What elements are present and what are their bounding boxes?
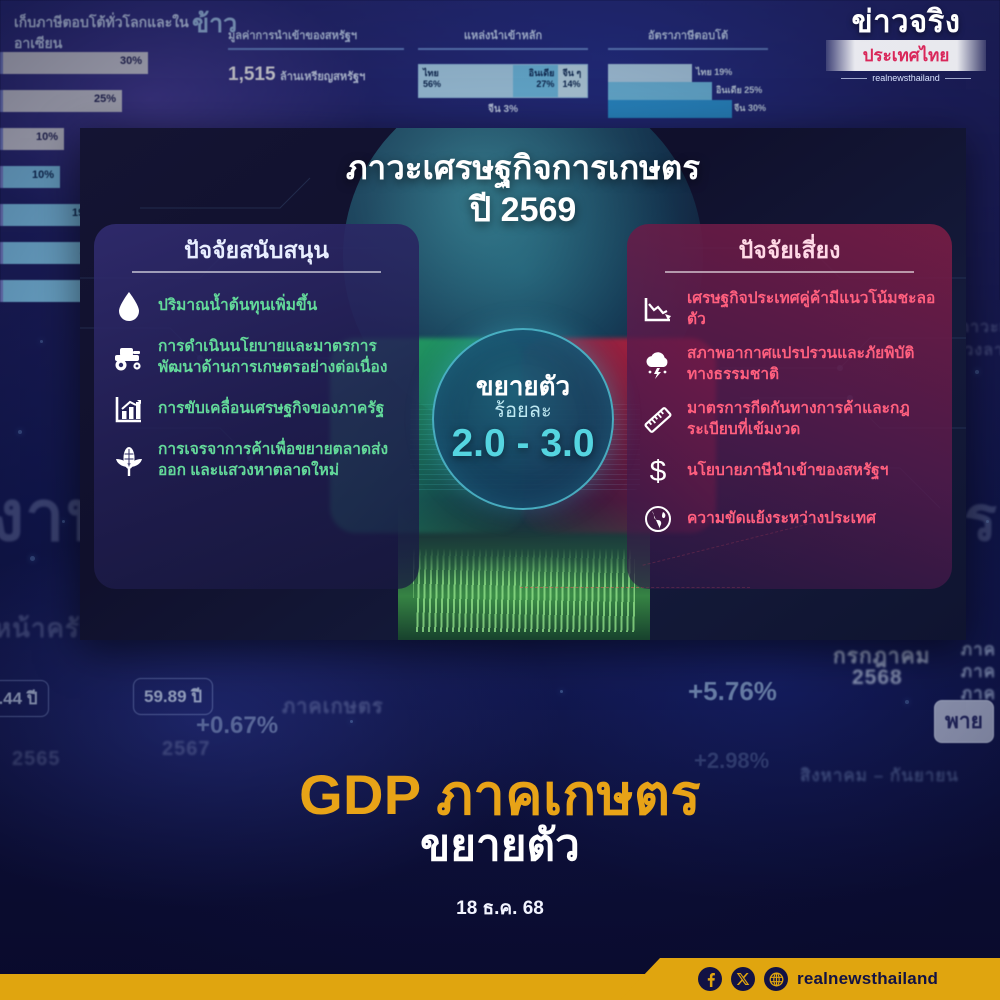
risk-factors-heading: ปัจจัยเสี่ยง bbox=[639, 238, 940, 263]
risk-factor-item: สภาพอากาศแปรปรวนและภัยพิบัติทางธรรมชาติ bbox=[641, 344, 940, 385]
infographic-card: ภาวะเศรษฐกิจการเกษตร ปี 2569 ปัจจัยสนับส… bbox=[80, 128, 966, 640]
chart-down-icon bbox=[641, 293, 675, 327]
risk-factor-item: $ นโยบายภาษีนำเข้าของสหรัฐฯ bbox=[641, 454, 940, 488]
support-factor-item: ปริมาณน้ำต้นทุนเพิ่มขึ้น bbox=[112, 289, 407, 323]
logo-handle: realnewsthailand bbox=[826, 73, 986, 83]
support-factor-text: การเจรจาการค้าเพื่อขยายตลาดส่งออก และแสว… bbox=[158, 440, 407, 481]
support-factor-text: ปริมาณน้ำต้นทุนเพิ่มขึ้น bbox=[158, 296, 317, 316]
support-factor-text: การดำเนินนโยบายและมาตรการพัฒนาด้านการเกษ… bbox=[158, 337, 407, 378]
panel-divider bbox=[132, 271, 381, 273]
growth-unit: ร้อยละ bbox=[494, 400, 551, 423]
risk-factor-item: ความขัดแย้งระหว่างประเทศ bbox=[641, 502, 940, 536]
website-globe-icon[interactable] bbox=[764, 967, 788, 991]
risk-factor-text: นโยบายภาษีนำเข้าของสหรัฐฯ bbox=[687, 461, 888, 481]
support-factor-item: การดำเนินนโยบายและมาตรการพัฒนาด้านการเกษ… bbox=[112, 337, 407, 378]
headline-line-1: GDP ภาคเกษตร bbox=[0, 766, 1000, 824]
risk-factor-text: สภาพอากาศแปรปรวนและภัยพิบัติทางธรรมชาติ bbox=[687, 344, 940, 385]
growth-value: 2.0 - 3.0 bbox=[451, 424, 594, 465]
ruler-icon bbox=[641, 403, 675, 437]
risk-factor-text: ความขัดแย้งระหว่างประเทศ bbox=[687, 509, 876, 529]
social-handle: realnewsthailand bbox=[797, 969, 938, 989]
logo-title-th: ข่าวจริง bbox=[826, 6, 986, 37]
footer-bar-region: realnewsthailand bbox=[0, 958, 1000, 1000]
growth-rate-circle: ขยายตัว ร้อยละ 2.0 - 3.0 bbox=[432, 328, 614, 510]
brand-logo: ข่าวจริง ประเทศไทย realnewsthailand bbox=[826, 6, 986, 83]
logo-subtitle-th: ประเทศไทย bbox=[826, 40, 986, 71]
support-factor-item: การเจรจาการค้าเพื่อขยายตลาดส่งออก และแสว… bbox=[112, 440, 407, 481]
water-drop-icon bbox=[112, 289, 146, 323]
card-title-text: ภาวะเศรษฐกิจการเกษตร bbox=[346, 149, 700, 186]
support-factors-panel: ปัจจัยสนับสนุน ปริมาณน้ำต้นทุนเพิ่มขึ้น … bbox=[94, 224, 419, 589]
svg-text:$: $ bbox=[650, 455, 667, 487]
x-twitter-icon[interactable] bbox=[731, 967, 755, 991]
dollar-icon: $ bbox=[641, 454, 675, 488]
risk-factors-panel: ปัจจัยเสี่ยง เศรษฐกิจประเทศคู่ค้ามีแนวโน… bbox=[627, 224, 952, 589]
risk-factor-text: มาตรการกีดกันทางการค้าและกฎระเบียบที่เข้… bbox=[687, 399, 940, 440]
storm-cloud-icon bbox=[641, 348, 675, 382]
panel-divider bbox=[665, 271, 914, 273]
corn-plant-icon bbox=[112, 444, 146, 478]
headline-line-2: ขยายตัว bbox=[0, 822, 1000, 870]
risk-factor-item: มาตรการกีดกันทางการค้าและกฎระเบียบที่เข้… bbox=[641, 399, 940, 440]
support-factors-heading: ปัจจัยสนับสนุน bbox=[106, 238, 407, 263]
support-factor-item: การขับเคลื่อนเศรษฐกิจของภาครัฐ bbox=[112, 392, 407, 426]
risk-factor-item: เศรษฐกิจประเทศคู่ค้ามีแนวโน้มชะลอตัว bbox=[641, 289, 940, 330]
card-title: ภาวะเศรษฐกิจการเกษตร ปี 2569 bbox=[80, 148, 966, 230]
risk-factor-text: เศรษฐกิจประเทศคู่ค้ามีแนวโน้มชะลอตัว bbox=[687, 289, 940, 330]
bar-chart-up-icon bbox=[112, 392, 146, 426]
growth-label: ขยายตัว bbox=[476, 373, 570, 400]
headline-block: GDP ภาคเกษตร ขยายตัว 18 ธ.ค. 68 bbox=[0, 766, 1000, 923]
facebook-icon[interactable] bbox=[698, 967, 722, 991]
tractor-icon bbox=[112, 341, 146, 375]
support-factor-text: การขับเคลื่อนเศรษฐกิจของภาครัฐ bbox=[158, 399, 384, 419]
publish-date: 18 ธ.ค. 68 bbox=[0, 893, 1000, 923]
globe-icon bbox=[641, 502, 675, 536]
